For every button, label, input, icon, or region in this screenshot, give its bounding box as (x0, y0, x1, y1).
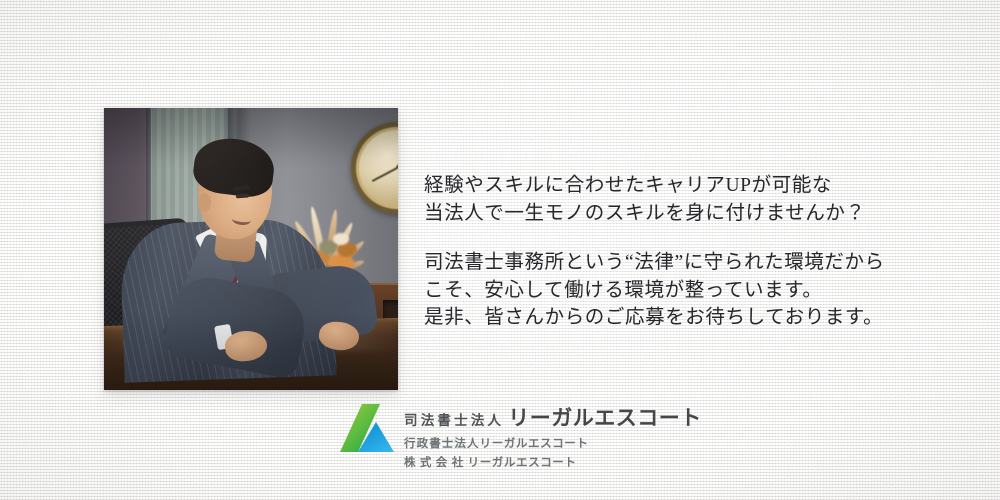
photo-color-grade (104, 108, 398, 390)
logo-entity-prefix: 司法書士法人 (404, 409, 504, 429)
logo-main-line: 司法書士法人 リーガルエスコート (404, 402, 702, 432)
logo-company-name: リーガルエスコート (508, 402, 702, 432)
copy-line: 是非、皆さんからのご応募をお待ちしております。 (424, 304, 924, 332)
copy-line: 司法書士事務所という“法律”に守られた環境だから (424, 249, 924, 277)
copy-paragraph-2: 司法書士事務所という“法律”に守られた環境だから こそ、安心して働ける環境が整っ… (424, 249, 924, 332)
logo-sub-line-1: 行政書士法人リーガルエスコート (404, 435, 702, 451)
logo-wordmark: 司法書士法人 リーガルエスコート 行政書士法人リーガルエスコート 株式会社リーガ… (404, 400, 702, 470)
logo-sub-line-2: 株式会社リーガルエスコート (404, 454, 702, 470)
logo-sub-prefix: 株式会社 (404, 457, 468, 469)
logo-sub-name: リーガルエスコート (480, 438, 589, 450)
copy-paragraph-1: 経験やスキルに合わせたキャリアUPが可能な 当法人で一生モノのスキルを身に付けま… (424, 172, 924, 227)
recruit-copy: 経験やスキルに合わせたキャリアUPが可能な 当法人で一生モノのスキルを身に付けま… (424, 172, 924, 332)
copy-line: こそ、安心して働ける環境が整っています。 (424, 277, 924, 305)
recruit-banner: 経験やスキルに合わせたキャリアUPが可能な 当法人で一生モノのスキルを身に付けま… (0, 0, 1000, 500)
office-portrait-photo (104, 108, 398, 390)
company-logo-lockup: 司法書士法人 リーガルエスコート 行政書士法人リーガルエスコート 株式会社リーガ… (338, 400, 702, 470)
logo-sub-name: リーガルエスコート (468, 457, 577, 469)
legal-escort-logo-mark (338, 400, 394, 456)
logo-sub-prefix: 行政書士法人 (404, 438, 480, 450)
copy-line: 当法人で一生モノのスキルを身に付けませんか？ (424, 200, 924, 228)
copy-line: 経験やスキルに合わせたキャリアUPが可能な (424, 172, 924, 200)
